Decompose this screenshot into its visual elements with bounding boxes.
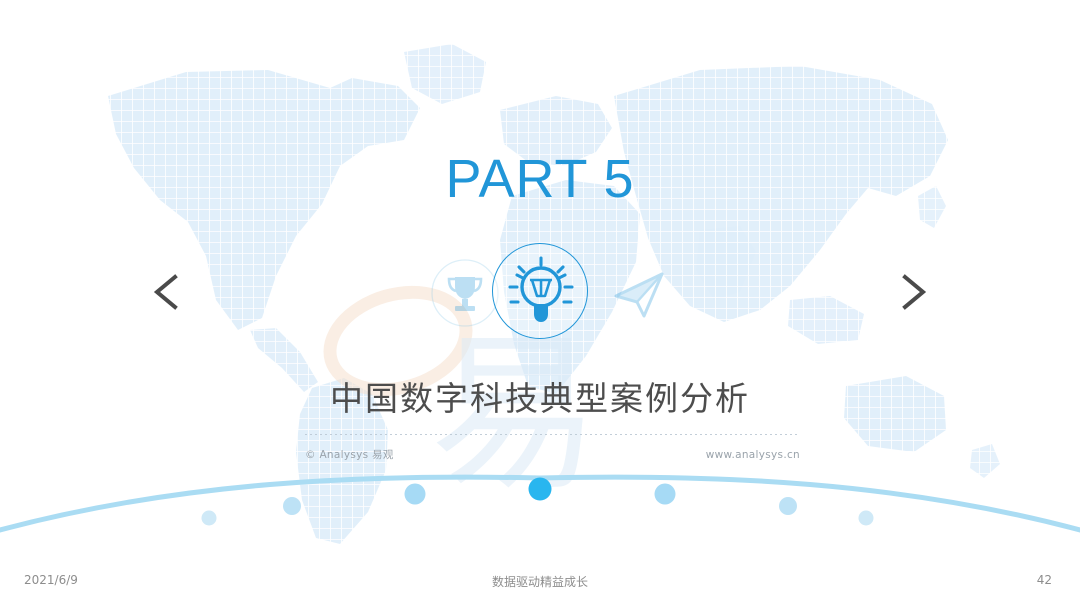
next-slide-arrow-icon[interactable] <box>886 266 938 318</box>
footer-page-number: 42 <box>1037 573 1052 587</box>
lightbulb-glyph <box>506 256 576 328</box>
footer-bar: 2021/6/9 数据驱动精益成长 42 <box>0 560 1080 608</box>
divider <box>305 434 800 435</box>
trophy-icon <box>430 258 500 328</box>
slide-canvas: 易 PART 5 <box>0 0 1080 608</box>
copyright-label: © Analysys 易观 <box>305 447 394 462</box>
prev-slide-arrow-icon[interactable] <box>142 266 194 318</box>
progress-dot[interactable] <box>859 511 874 526</box>
credit-block: © Analysys 易观 www.analysys.cn <box>305 434 800 462</box>
page-title: PART 5 <box>0 148 1080 210</box>
progress-dot[interactable] <box>202 511 217 526</box>
progress-dot-active[interactable] <box>529 478 552 501</box>
lightbulb-icon <box>492 243 588 339</box>
progress-dot[interactable] <box>779 497 797 515</box>
section-title: 中国数字科技典型案例分析 <box>0 372 1080 420</box>
paper-plane-icon <box>604 258 674 328</box>
progress-dot[interactable] <box>405 484 426 505</box>
progress-dot[interactable] <box>283 497 301 515</box>
progress-dot[interactable] <box>655 484 676 505</box>
progress-arc <box>0 462 1080 534</box>
website-url[interactable]: www.analysys.cn <box>706 449 800 461</box>
progress-dot-group <box>202 478 874 526</box>
footer-center-text: 数据驱动精益成长 <box>0 573 1080 590</box>
